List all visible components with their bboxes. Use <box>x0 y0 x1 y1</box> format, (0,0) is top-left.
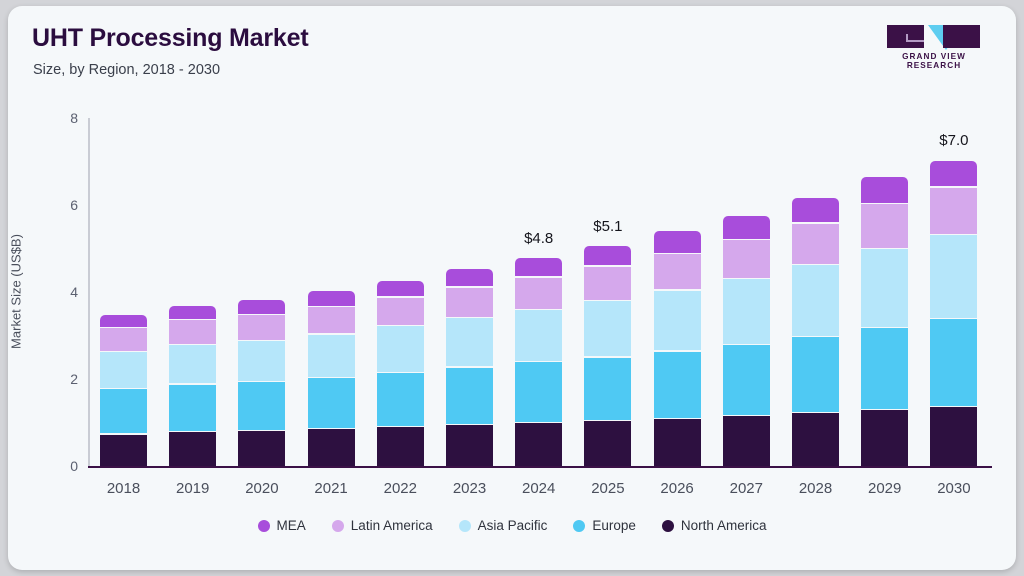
stacked-bar-chart: Market Size (US$B) 02468 201820192020202… <box>8 6 1016 570</box>
bar-group[interactable]: 2029 <box>861 118 908 466</box>
x-axis-tick: 2024 <box>504 480 573 497</box>
bar-segment[interactable] <box>723 279 770 344</box>
x-axis-line <box>88 466 992 468</box>
bar-segment[interactable] <box>584 267 631 300</box>
bar-segment[interactable] <box>654 419 701 466</box>
bar-segment[interactable] <box>584 358 631 420</box>
bar-segment[interactable] <box>584 246 631 266</box>
bar-segment[interactable] <box>446 425 493 466</box>
legend-item[interactable]: Europe <box>573 518 636 533</box>
bar-segment[interactable] <box>792 198 839 223</box>
bar-segment[interactable] <box>377 326 424 371</box>
legend-label: Europe <box>592 518 636 533</box>
bar-segment[interactable] <box>446 368 493 424</box>
bar-segment[interactable] <box>377 298 424 326</box>
x-axis-tick: 2029 <box>850 480 919 497</box>
bar-segment[interactable] <box>238 341 285 381</box>
bar-group[interactable]: 2023 <box>446 118 493 466</box>
bar-value-label: $7.0 <box>919 132 988 149</box>
bar-value-label: $4.8 <box>504 230 573 247</box>
legend-item[interactable]: Latin America <box>332 518 433 533</box>
legend-label: Latin America <box>351 518 433 533</box>
bar-segment[interactable] <box>238 431 285 466</box>
bar-segment[interactable] <box>515 258 562 276</box>
bar-segment[interactable] <box>723 240 770 278</box>
bar-segment[interactable] <box>100 328 147 351</box>
bar-group[interactable]: 2022 <box>377 118 424 466</box>
bar-segment[interactable] <box>169 432 216 466</box>
bar-segment[interactable] <box>792 337 839 412</box>
bar-group[interactable]: 2030$7.0 <box>930 118 977 466</box>
bar-group[interactable]: 2025$5.1 <box>584 118 631 466</box>
y-axis-tick: 0 <box>44 458 78 474</box>
bar-segment[interactable] <box>515 310 562 361</box>
bar-segment[interactable] <box>377 281 424 297</box>
bar-group[interactable]: 2024$4.8 <box>515 118 562 466</box>
bar-segment[interactable] <box>792 265 839 336</box>
bar-segment[interactable] <box>169 306 216 319</box>
legend-swatch-icon <box>459 520 471 532</box>
bar-segment[interactable] <box>930 161 977 187</box>
bar-segment[interactable] <box>308 291 355 305</box>
x-axis-tick: 2021 <box>297 480 366 497</box>
bar-segment[interactable] <box>169 320 216 344</box>
legend-item[interactable]: MEA <box>258 518 306 533</box>
bar-value-label: $5.1 <box>573 218 642 235</box>
x-axis-tick: 2018 <box>89 480 158 497</box>
x-axis-tick: 2020 <box>227 480 296 497</box>
bar-segment[interactable] <box>930 188 977 235</box>
bar-segment[interactable] <box>308 307 355 333</box>
bar-segment[interactable] <box>100 352 147 388</box>
bar-segment[interactable] <box>654 231 701 252</box>
bar-group[interactable]: 2020 <box>238 118 285 466</box>
legend-label: MEA <box>277 518 306 533</box>
x-axis-tick: 2026 <box>643 480 712 497</box>
bar-segment[interactable] <box>723 345 770 415</box>
x-axis-tick: 2023 <box>435 480 504 497</box>
legend-swatch-icon <box>258 520 270 532</box>
bar-segment[interactable] <box>100 389 147 433</box>
y-axis-label: Market Size (US$B) <box>9 162 24 422</box>
x-axis-tick: 2028 <box>781 480 850 497</box>
bar-segment[interactable] <box>654 254 701 289</box>
bar-segment[interactable] <box>308 335 355 377</box>
bar-segment[interactable] <box>723 216 770 239</box>
bar-segment[interactable] <box>100 315 147 327</box>
bar-segment[interactable] <box>861 204 908 248</box>
y-axis-tick: 4 <box>44 284 78 300</box>
bar-segment[interactable] <box>446 318 493 366</box>
bar-segment[interactable] <box>446 269 493 286</box>
x-axis-tick: 2030 <box>919 480 988 497</box>
bar-segment[interactable] <box>654 352 701 418</box>
bar-segment[interactable] <box>515 278 562 309</box>
legend-swatch-icon <box>662 520 674 532</box>
x-axis-tick: 2027 <box>712 480 781 497</box>
bar-segment[interactable] <box>861 410 908 466</box>
x-axis-tick: 2025 <box>573 480 642 497</box>
bar-group[interactable]: 2027 <box>723 118 770 466</box>
bar-segment[interactable] <box>169 345 216 383</box>
bar-segment[interactable] <box>308 429 355 466</box>
bar-segment[interactable] <box>930 407 977 466</box>
y-axis-tick: 2 <box>44 371 78 387</box>
legend-swatch-icon <box>573 520 585 532</box>
bar-segment[interactable] <box>377 427 424 466</box>
bar-segment[interactable] <box>238 315 285 340</box>
bar-segment[interactable] <box>515 362 562 421</box>
y-axis-tick: 6 <box>44 197 78 213</box>
legend-swatch-icon <box>332 520 344 532</box>
bar-segment[interactable] <box>238 300 285 314</box>
bar-segment[interactable] <box>792 224 839 265</box>
bar-segment[interactable] <box>446 288 493 317</box>
bar-segment[interactable] <box>792 413 839 466</box>
bar-segment[interactable] <box>169 385 216 432</box>
bar-segment[interactable] <box>377 373 424 426</box>
bar-segment[interactable] <box>654 291 701 351</box>
chart-legend: MEALatin AmericaAsia PacificEuropeNorth … <box>8 518 1016 533</box>
y-axis-tick: 8 <box>44 110 78 126</box>
bar-group[interactable]: 2018 <box>100 118 147 466</box>
bar-segment[interactable] <box>861 249 908 327</box>
bar-group[interactable]: 2019 <box>169 118 216 466</box>
legend-label: North America <box>681 518 767 533</box>
bar-segment[interactable] <box>584 421 631 466</box>
bar-segment[interactable] <box>515 423 562 466</box>
bar-segment[interactable] <box>308 378 355 428</box>
bar-segment[interactable] <box>861 177 908 203</box>
bar-segment[interactable] <box>930 235 977 317</box>
bar-segment[interactable] <box>723 416 770 466</box>
legend-item[interactable]: Asia Pacific <box>459 518 548 533</box>
y-axis-ticks: 02468 <box>36 6 78 570</box>
legend-item[interactable]: North America <box>662 518 767 533</box>
chart-card: UHT Processing Market Size, by Region, 2… <box>8 6 1016 570</box>
bar-group[interactable]: 2021 <box>308 118 355 466</box>
bar-segment[interactable] <box>584 301 631 356</box>
legend-label: Asia Pacific <box>478 518 548 533</box>
bar-group[interactable]: 2028 <box>792 118 839 466</box>
bar-series-container: 2018201920202021202220232024$4.82025$5.1… <box>88 118 992 466</box>
bar-segment[interactable] <box>861 328 908 409</box>
bar-segment[interactable] <box>930 319 977 406</box>
bar-segment[interactable] <box>100 435 147 466</box>
bar-segment[interactable] <box>238 382 285 430</box>
x-axis-tick: 2022 <box>366 480 435 497</box>
x-axis-tick: 2019 <box>158 480 227 497</box>
bar-group[interactable]: 2026 <box>654 118 701 466</box>
